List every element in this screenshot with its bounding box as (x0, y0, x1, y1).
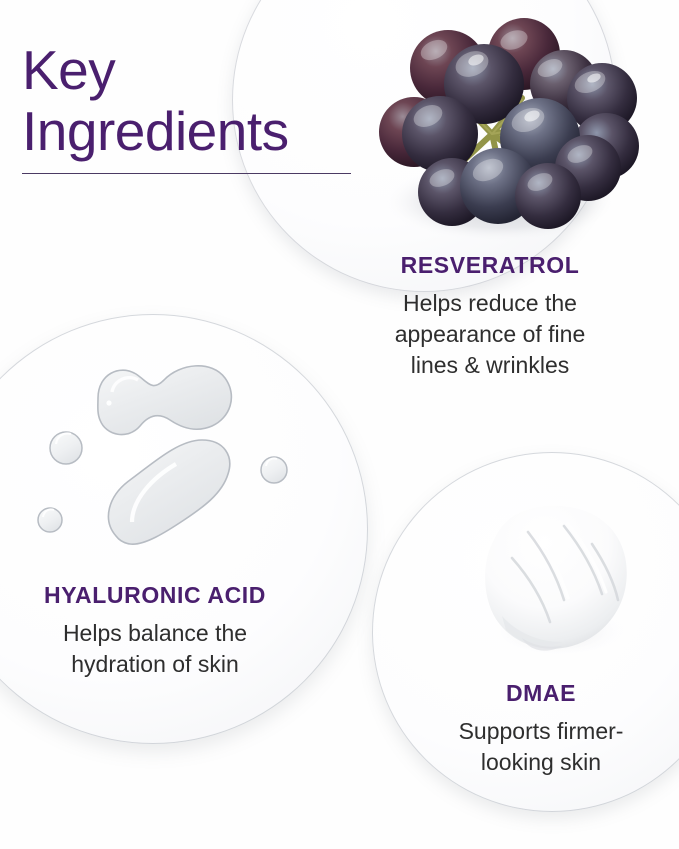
ingredient-description-resveratrol: Helps reduce the appearance of fine line… (348, 288, 632, 381)
grape-cluster-image (352, 6, 642, 246)
ingredient-caption-hyaluronic-acid: HYALURONIC ACID Helps balance the hydrat… (0, 582, 313, 680)
ingredient-description-dmae: Supports firmer- looking skin (412, 716, 670, 778)
ingredient-caption-resveratrol: RESVERATROL Helps reduce the appearance … (348, 252, 632, 381)
ingredient-caption-dmae: DMAE Supports firmer- looking skin (412, 680, 670, 778)
ingredient-description-hyaluronic-acid: Helps balance the hydration of skin (0, 618, 313, 680)
ingredient-name-dmae: DMAE (412, 680, 670, 707)
title-underline (22, 173, 351, 174)
page-title: Key Ingredients (22, 40, 352, 162)
ingredient-name-hyaluronic-acid: HYALURONIC ACID (0, 582, 313, 609)
cream-swatch-image (468, 488, 644, 664)
ingredient-name-resveratrol: RESVERATROL (348, 252, 632, 279)
page-title-block: Key Ingredients (22, 40, 352, 174)
serum-droplets-image (20, 330, 305, 565)
key-ingredients-infographic: Key Ingredients RESVERATROL Helps reduce… (0, 0, 679, 849)
